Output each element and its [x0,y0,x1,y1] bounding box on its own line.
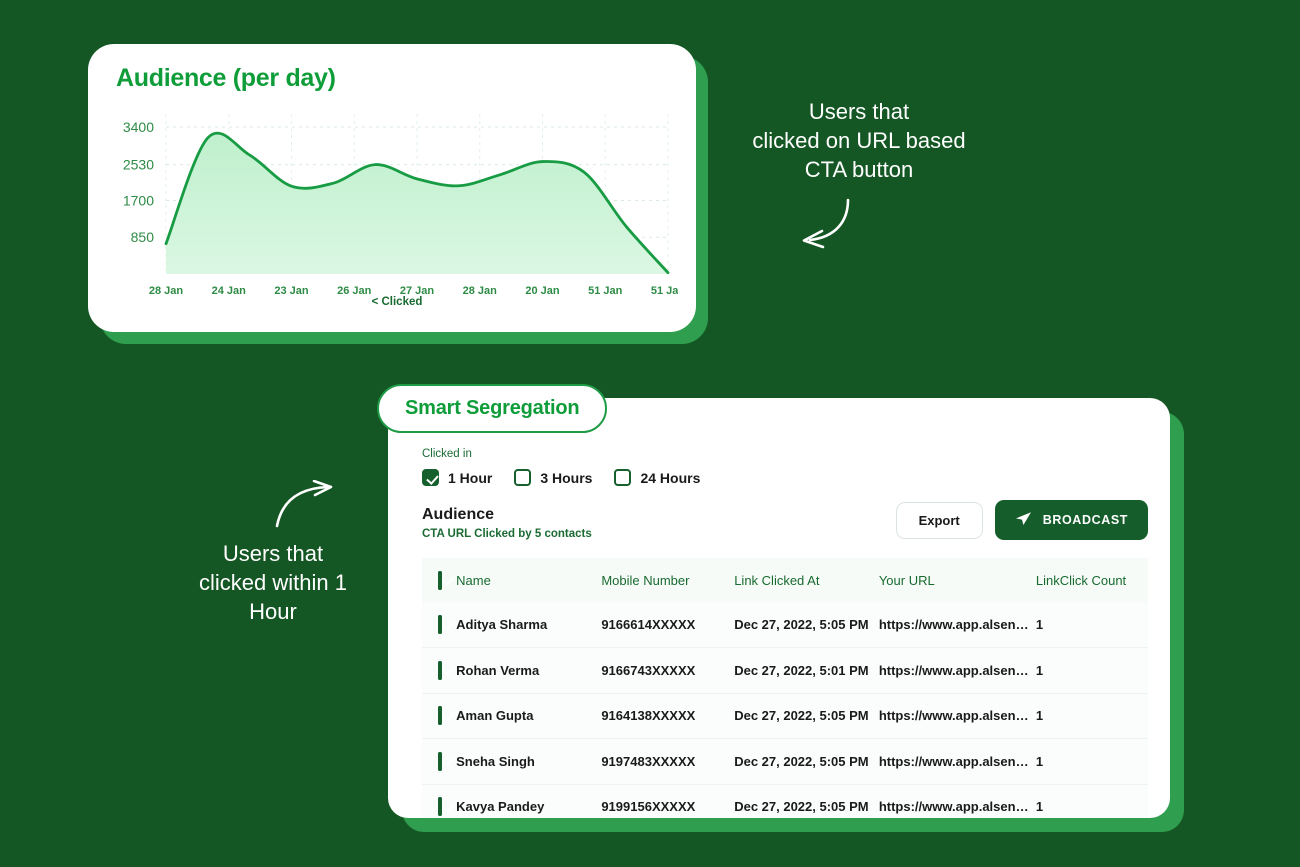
checkbox-row-select[interactable] [438,615,442,634]
chart-ytick-label: 1700 [123,192,154,208]
cell-your-url: https://www.app.alsen… [879,602,1036,648]
audience-table: Name Mobile Number Link Clicked At Your … [422,558,1148,818]
chart-area-fill [166,133,668,274]
chart-plot-area: 34002530170085028 Jan24 Jan23 Jan26 Jan2… [108,106,678,316]
cell-name: Kavya Pandey [456,784,601,818]
filter-24-hours[interactable]: 24 Hours [614,469,700,486]
tab-smart-segregation[interactable]: Smart Segregation [377,384,607,433]
cell-link-clicked-at: Dec 27, 2022, 5:05 PM [734,602,879,648]
cell-your-url: https://www.app.alsen… [879,693,1036,739]
chart-ytick-label: 2530 [123,157,154,173]
table-row[interactable]: Sneha Singh9197483XXXXXDec 27, 2022, 5:0… [422,739,1148,785]
checkbox-select-all[interactable] [438,571,442,590]
filter-3-hours[interactable]: 3 Hours [514,469,592,486]
row-select-cell[interactable] [422,739,456,785]
column-header-name[interactable]: Name [456,558,601,602]
filter-label: 24 Hours [640,470,700,486]
checkbox-1-hour[interactable] [422,469,439,486]
cell-your-url: https://www.app.alsen… [879,784,1036,818]
audience-header: Audience CTA URL Clicked by 5 contacts E… [422,506,1148,540]
cell-linkclick-count: 1 [1036,602,1148,648]
cell-mobile-number: 9166743XXXXX [601,648,734,694]
table-header-row: Name Mobile Number Link Clicked At Your … [422,558,1148,602]
cell-name: Sneha Singh [456,739,601,785]
curved-arrow-down-left-icon [790,195,860,258]
annotation-cta-users: Users that clicked on URL based CTA butt… [700,97,1018,184]
chart-ytick-label: 3400 [123,119,154,135]
checkbox-row-select[interactable] [438,661,442,680]
row-select-cell[interactable] [422,648,456,694]
annotation-line: Users that [700,97,1018,126]
row-select-cell[interactable] [422,784,456,818]
table-body: Aditya Sharma9166614XXXXXDec 27, 2022, 5… [422,602,1148,818]
audience-chart-card: Audience (per day) 34002530170085028 Jan… [88,44,696,332]
broadcast-label: BROADCAST [1043,513,1128,527]
clicked-in-filter-group: 1 Hour 3 Hours 24 Hours [422,469,1148,486]
cell-your-url: https://www.app.alsen… [879,739,1036,785]
filter-1-hour[interactable]: 1 Hour [422,469,492,486]
annotation-one-hour-users: Users that clicked within 1 Hour [155,539,391,626]
chart-xaxis-label: < Clicked [88,296,696,308]
checkbox-3-hours[interactable] [514,469,531,486]
checkbox-24-hours[interactable] [614,469,631,486]
cell-mobile-number: 9166614XXXXX [601,602,734,648]
column-header-your-url[interactable]: Your URL [879,558,1036,602]
cell-linkclick-count: 1 [1036,693,1148,739]
table-header: Name Mobile Number Link Clicked At Your … [422,558,1148,602]
column-header-mobile-number[interactable]: Mobile Number [601,558,734,602]
curved-arrow-up-right-icon [272,480,338,535]
header-select-all-cell[interactable] [422,558,456,602]
row-select-cell[interactable] [422,602,456,648]
broadcast-button[interactable]: BROADCAST [995,500,1148,540]
annotation-line: CTA button [700,155,1018,184]
cell-mobile-number: 9164138XXXXX [601,693,734,739]
cell-linkclick-count: 1 [1036,648,1148,694]
checkbox-row-select[interactable] [438,706,442,725]
table-row[interactable]: Aman Gupta9164138XXXXXDec 27, 2022, 5:05… [422,693,1148,739]
clicked-in-label: Clicked in [422,448,1148,460]
cell-mobile-number: 9199156XXXXX [601,784,734,818]
cell-link-clicked-at: Dec 27, 2022, 5:05 PM [734,693,879,739]
audience-subtitle: CTA URL Clicked by 5 contacts [422,528,592,540]
action-button-group: Export BROADCAST [896,500,1148,540]
chart-ytick-label: 850 [131,229,155,245]
cell-linkclick-count: 1 [1036,739,1148,785]
table-row[interactable]: Kavya Pandey9199156XXXXXDec 27, 2022, 5:… [422,784,1148,818]
audience-title: Audience [422,506,592,524]
checkbox-row-select[interactable] [438,752,442,771]
cell-name: Aman Gupta [456,693,601,739]
chart-title: Audience (per day) [116,64,336,93]
cell-your-url: https://www.app.alsen… [879,648,1036,694]
column-header-link-clicked-at[interactable]: Link Clicked At [734,558,879,602]
annotation-line: Users that [155,539,391,568]
annotation-line: clicked within 1 [155,568,391,597]
audience-area-chart: 34002530170085028 Jan24 Jan23 Jan26 Jan2… [108,106,678,316]
table-row[interactable]: Aditya Sharma9166614XXXXXDec 27, 2022, 5… [422,602,1148,648]
annotation-line: clicked on URL based [700,126,1018,155]
send-plane-icon [1015,511,1032,529]
filter-label: 3 Hours [540,470,592,486]
cell-mobile-number: 9197483XXXXX [601,739,734,785]
cell-link-clicked-at: Dec 27, 2022, 5:01 PM [734,648,879,694]
smart-segregation-panel: Clicked in 1 Hour 3 Hours 24 Hours Audie… [388,398,1170,818]
table-row[interactable]: Rohan Verma9166743XXXXXDec 27, 2022, 5:0… [422,648,1148,694]
cell-linkclick-count: 1 [1036,784,1148,818]
export-button[interactable]: Export [896,502,983,539]
annotation-line: Hour [155,597,391,626]
cell-name: Rohan Verma [456,648,601,694]
cell-link-clicked-at: Dec 27, 2022, 5:05 PM [734,739,879,785]
column-header-linkclick-count[interactable]: LinkClick Count [1036,558,1148,602]
cell-link-clicked-at: Dec 27, 2022, 5:05 PM [734,784,879,818]
row-select-cell[interactable] [422,693,456,739]
checkbox-row-select[interactable] [438,797,442,816]
filter-label: 1 Hour [448,470,492,486]
audience-heading-block: Audience CTA URL Clicked by 5 contacts [422,506,592,540]
cell-name: Aditya Sharma [456,602,601,648]
